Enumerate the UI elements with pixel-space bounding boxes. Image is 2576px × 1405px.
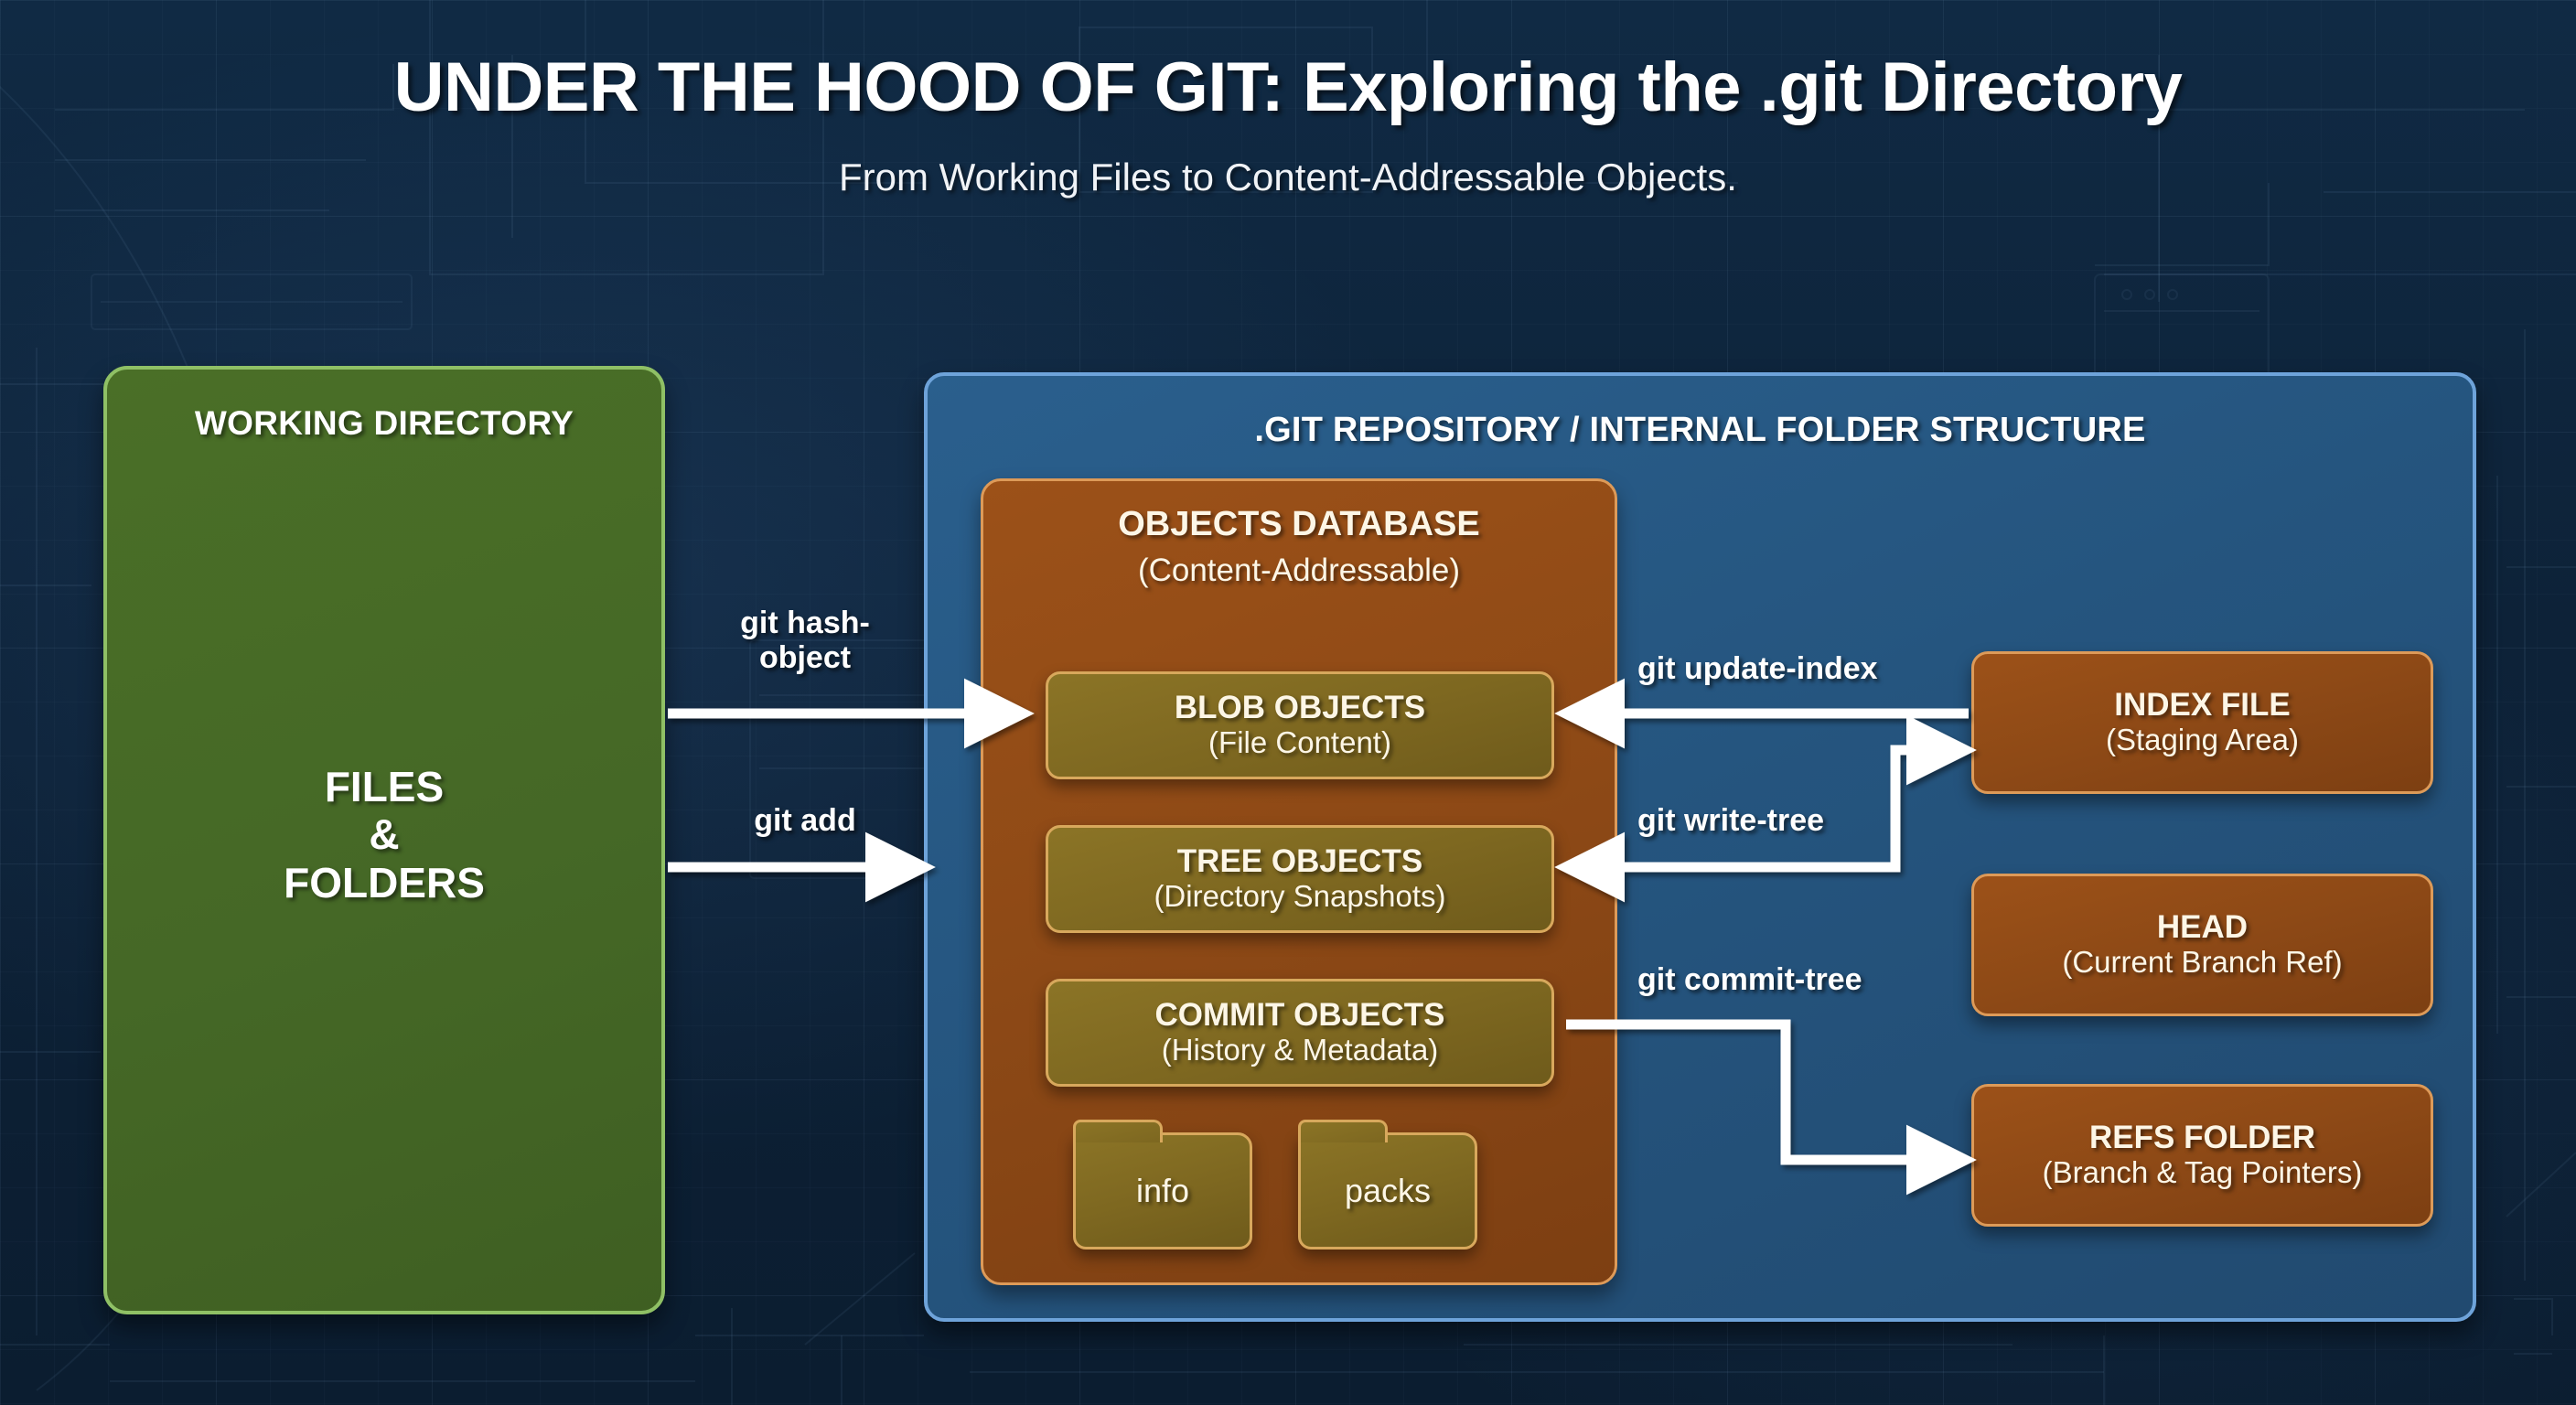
blob-objects-detail: (File Content) bbox=[1208, 725, 1391, 760]
arrow-label-git-add: git add bbox=[695, 803, 915, 838]
objects-database-title: OBJECTS DATABASE bbox=[983, 505, 1615, 544]
head-label: HEAD bbox=[2157, 909, 2248, 945]
packs-folder-label: packs bbox=[1345, 1172, 1431, 1210]
commit-objects-box[interactable]: COMMIT OBJECTS (History & Metadata) bbox=[1046, 979, 1554, 1087]
head-detail: (Current Branch Ref) bbox=[2062, 945, 2342, 981]
info-folder-icon[interactable]: info bbox=[1073, 1132, 1252, 1249]
tree-objects-box[interactable]: TREE OBJECTS (Directory Snapshots) bbox=[1046, 825, 1554, 933]
arrow-label-git-update-index: git update-index bbox=[1637, 651, 1948, 686]
info-folder-label: info bbox=[1136, 1172, 1189, 1210]
refs-folder-detail: (Branch & Tag Pointers) bbox=[2043, 1155, 2363, 1191]
index-file-detail: (Staging Area) bbox=[2106, 723, 2299, 758]
arrow-label-git-write-tree: git write-tree bbox=[1637, 803, 1948, 838]
refs-folder-label: REFS FOLDER bbox=[2089, 1120, 2315, 1155]
index-file-label: INDEX FILE bbox=[2114, 687, 2291, 723]
arrow-label-git-hash-object: git hash- object bbox=[695, 606, 915, 675]
working-directory-body: FILES & FOLDERS bbox=[107, 763, 661, 906]
page-title: UNDER THE HOOD OF GIT: Exploring the .gi… bbox=[0, 48, 2576, 127]
objects-database-panel[interactable]: OBJECTS DATABASE (Content-Addressable) B… bbox=[981, 478, 1617, 1285]
head-box[interactable]: HEAD (Current Branch Ref) bbox=[1971, 874, 2433, 1016]
commit-objects-label: COMMIT OBJECTS bbox=[1155, 998, 1445, 1034]
arrow-label-git-commit-tree: git commit-tree bbox=[1637, 962, 1948, 997]
index-file-box[interactable]: INDEX FILE (Staging Area) bbox=[1971, 651, 2433, 794]
blob-objects-box[interactable]: BLOB OBJECTS (File Content) bbox=[1046, 671, 1554, 779]
working-directory-title: WORKING DIRECTORY bbox=[107, 404, 661, 443]
blob-objects-label: BLOB OBJECTS bbox=[1175, 691, 1425, 726]
tree-objects-detail: (Directory Snapshots) bbox=[1154, 879, 1445, 914]
page-subtitle: From Working Files to Content-Addressabl… bbox=[0, 156, 2576, 199]
refs-folder-box[interactable]: REFS FOLDER (Branch & Tag Pointers) bbox=[1971, 1084, 2433, 1227]
objects-database-subtitle: (Content-Addressable) bbox=[983, 552, 1615, 589]
commit-objects-detail: (History & Metadata) bbox=[1162, 1033, 1439, 1067]
working-directory-panel[interactable]: WORKING DIRECTORY FILES & FOLDERS bbox=[103, 366, 665, 1314]
packs-folder-icon[interactable]: packs bbox=[1298, 1132, 1477, 1249]
tree-objects-label: TREE OBJECTS bbox=[1177, 844, 1422, 880]
git-repository-title: .GIT REPOSITORY / INTERNAL FOLDER STRUCT… bbox=[928, 411, 2473, 450]
